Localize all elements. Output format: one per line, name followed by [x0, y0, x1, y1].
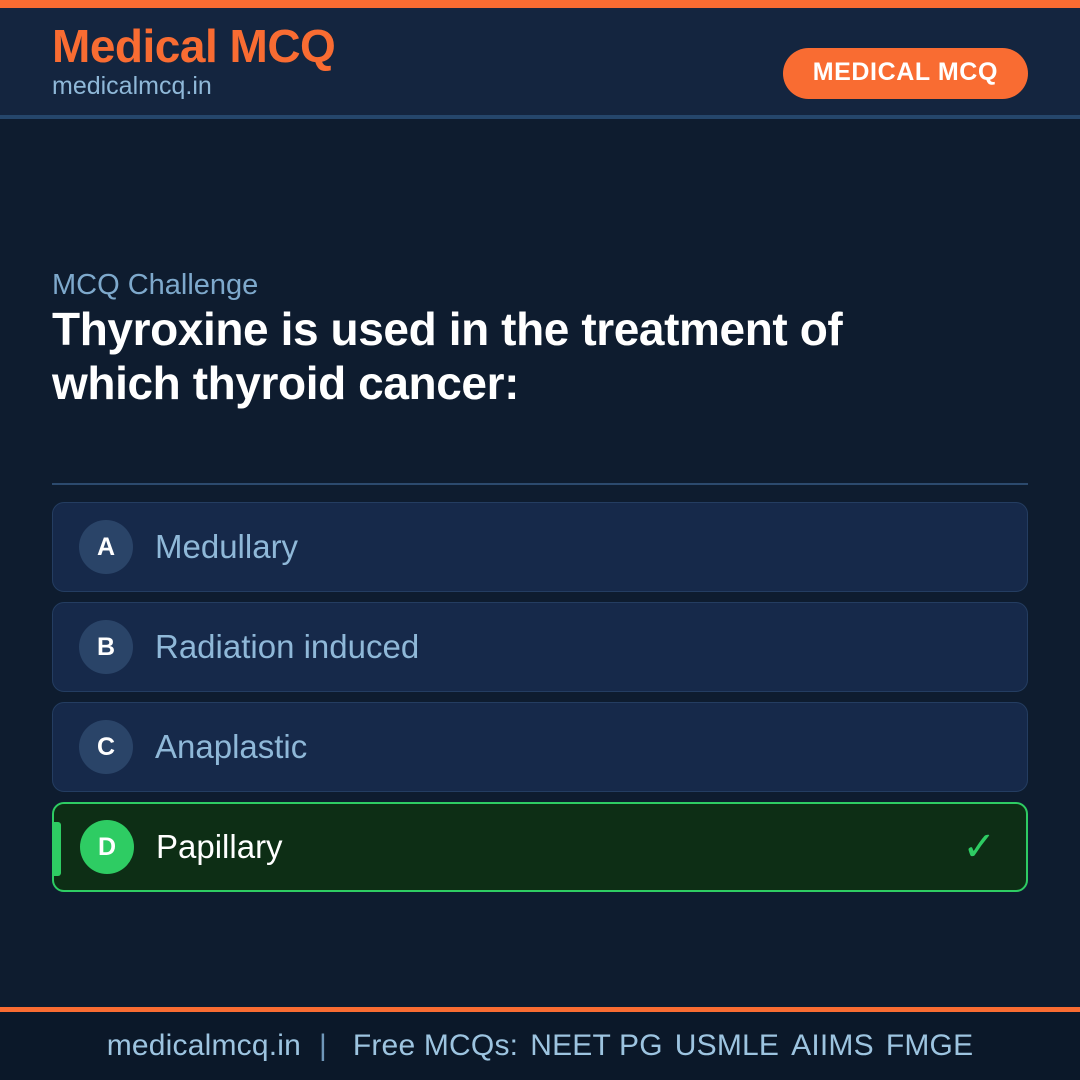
option-letter-badge: D: [80, 820, 134, 874]
main-content: MCQ Challenge Thyroxine is used in the t…: [0, 123, 1080, 1012]
top-accent-bar: [0, 0, 1080, 8]
option-label: Radiation induced: [155, 629, 419, 665]
footer-tag-neet-pg: NEET PG: [530, 1029, 663, 1062]
page-header: Medical MCQ medicalmcq.in MEDICAL MCQ: [0, 8, 1080, 119]
page-footer: medicalmcq.in | Free MCQs:NEET PGUSMLEAI…: [0, 1012, 1080, 1080]
option-label: Papillary: [156, 829, 283, 865]
options-list: A Medullary B Radiation induced C Anapla…: [52, 502, 1028, 902]
option-label: Medullary: [155, 529, 298, 565]
option-letter-badge: C: [79, 720, 133, 774]
footer-separator: |: [319, 1029, 327, 1063]
correct-accent-bar: [54, 822, 61, 876]
option-a[interactable]: A Medullary: [52, 502, 1028, 592]
option-letter-badge: B: [79, 620, 133, 674]
option-label: Anaplastic: [155, 729, 307, 765]
question-text: Thyroxine is used in the treatment of wh…: [52, 303, 852, 411]
header-badge: MEDICAL MCQ: [783, 48, 1028, 99]
brand: Medical MCQ medicalmcq.in: [52, 22, 335, 101]
checkmark-icon: ✓: [962, 827, 996, 867]
brand-title: Medical MCQ: [52, 22, 335, 70]
footer-tag-aiims: AIIMS: [791, 1029, 874, 1062]
footer-tags: Free MCQs:NEET PGUSMLEAIIMSFMGE: [345, 1029, 973, 1063]
mcq-challenge-label: MCQ Challenge: [52, 268, 258, 303]
question-divider: [52, 483, 1028, 485]
brand-subtitle: medicalmcq.in: [52, 73, 335, 101]
footer-tag-fmge: FMGE: [886, 1029, 973, 1062]
option-d[interactable]: D Papillary ✓: [52, 802, 1028, 892]
option-c[interactable]: C Anaplastic: [52, 702, 1028, 792]
option-b[interactable]: B Radiation induced: [52, 602, 1028, 692]
footer-site: medicalmcq.in: [107, 1029, 301, 1063]
option-letter-badge: A: [79, 520, 133, 574]
footer-tag-usmle: USMLE: [675, 1029, 779, 1062]
footer-tags-label: Free MCQs:: [353, 1029, 518, 1062]
